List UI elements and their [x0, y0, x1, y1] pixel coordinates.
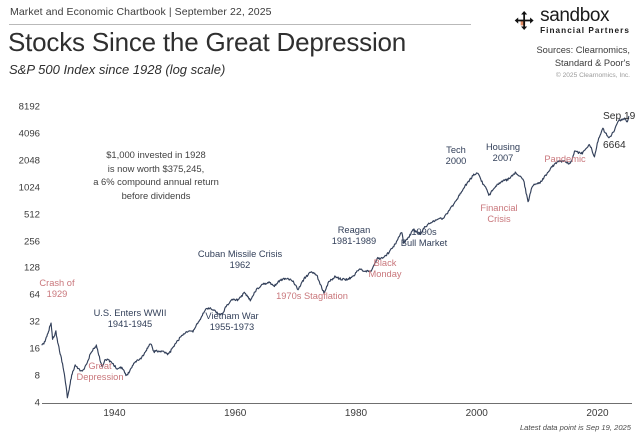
- chart-plot-area: 481632641282565121024204840968192 194019…: [0, 86, 640, 434]
- y-axis-tick-label: 64: [4, 290, 40, 301]
- annotation-cuban-missile-crisis: Cuban Missile Crisis 1962: [198, 249, 282, 272]
- annotation-us-enters-wwii: U.S. Enters WWII 1941-1945: [94, 308, 167, 331]
- investment-callout: $1,000 invested in 1928 is now worth $37…: [93, 148, 219, 203]
- brand-name: sandbox: [540, 6, 630, 25]
- annotation-housing-2007: Housing 2007: [486, 142, 520, 165]
- y-axis-tick-label: 2048: [4, 155, 40, 166]
- brand-row: sandbox Financial Partners: [462, 6, 630, 35]
- brand-block: sandbox Financial Partners Sources: Clea…: [462, 6, 630, 79]
- latest-value-label: Sep 19 6664: [603, 96, 635, 153]
- brand-tagline: Financial Partners: [540, 27, 630, 35]
- annotation-reagan: Reagan 1981-1989: [332, 225, 376, 248]
- brand-wordmark: sandbox Financial Partners: [540, 6, 630, 35]
- y-axis-tick-label: 512: [4, 209, 40, 220]
- x-axis-tick-label: 1960: [224, 408, 246, 419]
- x-axis-baseline: [42, 403, 632, 404]
- annotation-tech-2000: Tech 2000: [446, 145, 467, 168]
- sources-text: Sources: Clearnomics, Standard & Poor's: [462, 44, 630, 69]
- y-axis-tick-label: 1024: [4, 182, 40, 193]
- latest-value: 6664: [603, 140, 626, 151]
- x-axis-tick-label: 2000: [466, 408, 488, 419]
- four-way-arrow-icon: [514, 10, 535, 31]
- y-axis-tick-label: 128: [4, 263, 40, 274]
- y-axis-tick-label: 256: [4, 236, 40, 247]
- header-divider: [9, 24, 471, 25]
- chart-page: Market and Economic Chartbook | Septembe…: [0, 0, 640, 434]
- annotation-1990s-bull-market: 1990s Bull Market: [401, 227, 448, 250]
- annotation-crash-of-1929: Crash of 1929: [39, 278, 74, 301]
- annotation-black-monday: Black Monday: [368, 258, 401, 281]
- x-axis-tick-label: 2020: [586, 408, 608, 419]
- annotation-1970s-stagflation: 1970s Stagflation: [276, 291, 348, 302]
- y-axis-tick-label: 8192: [4, 102, 40, 113]
- y-axis-tick-label: 32: [4, 317, 40, 328]
- y-axis-tick-label: 8: [4, 371, 40, 382]
- y-axis-tick-label: 16: [4, 344, 40, 355]
- copyright-text: © 2025 Clearnomics, Inc.: [462, 72, 630, 79]
- x-axis-tick-label: 1940: [103, 408, 125, 419]
- annotation-vietnam-war: Vietnam War 1955-1973: [205, 311, 258, 334]
- page-subtitle: S&P 500 Index since 1928 (log scale): [9, 62, 225, 77]
- annotation-pandemic: Pandemic: [544, 154, 585, 165]
- x-axis-tick-label: 1980: [345, 408, 367, 419]
- y-axis-tick-label: 4096: [4, 128, 40, 139]
- y-axis: 481632641282565121024204840968192: [0, 86, 40, 434]
- chartbook-eyebrow: Market and Economic Chartbook | Septembe…: [10, 6, 272, 18]
- y-axis-tick-label: 4: [4, 398, 40, 409]
- annotation-financial-crisis: Financial Crisis: [480, 203, 517, 226]
- latest-date: Sep 19: [603, 111, 635, 122]
- annotation-great-depression: Great Depression: [76, 361, 123, 384]
- chart-footnote: Latest data point is Sep 19, 2025: [520, 423, 631, 432]
- page-title: Stocks Since the Great Depression: [8, 27, 406, 58]
